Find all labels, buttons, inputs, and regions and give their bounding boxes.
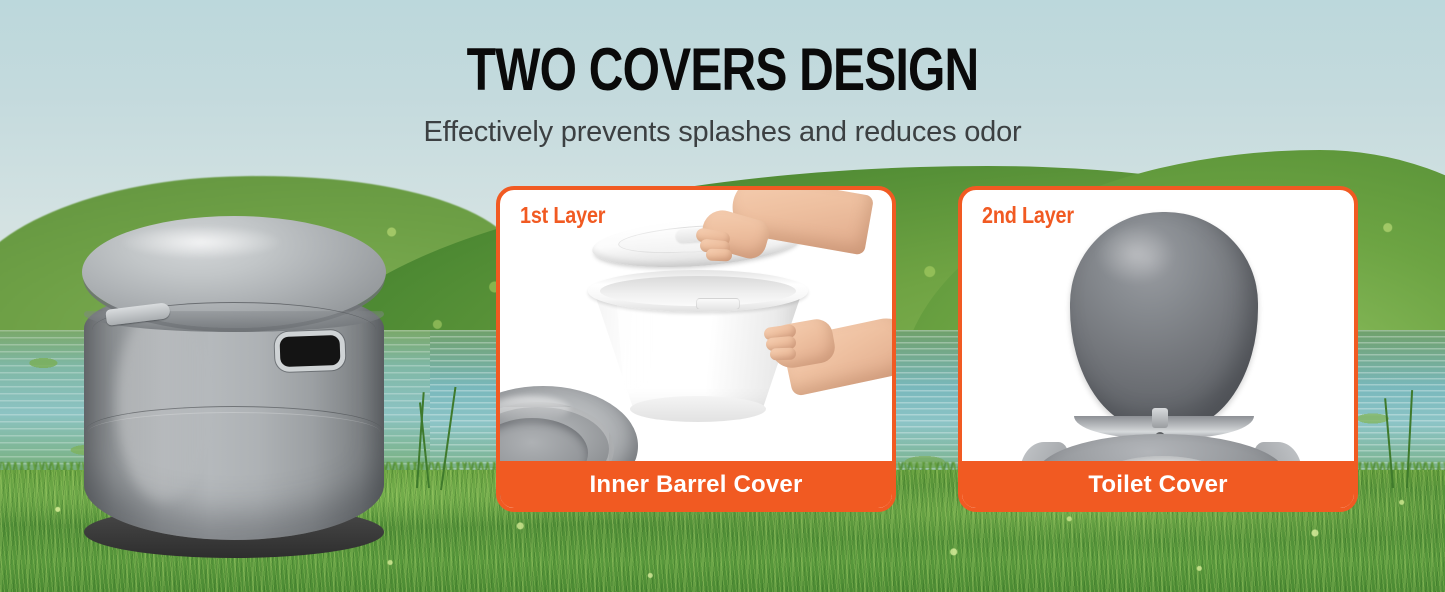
page-title: TWO COVERS DESIGN xyxy=(145,40,1301,100)
feature-card-first-layer: 1st Layer Inner Barrel Cover xyxy=(496,186,896,512)
lower-hand-finger xyxy=(770,348,796,361)
card-caption-second: Toilet Cover xyxy=(1088,471,1227,499)
card-caption-banner-first: Inner Barrel Cover xyxy=(499,461,893,509)
portable-toilet-product-photo xyxy=(70,210,400,562)
card-caption-first: Inner Barrel Cover xyxy=(589,471,802,499)
toilet-cover-lid-highlight xyxy=(1094,226,1186,296)
toilet-body-highlight xyxy=(116,302,212,502)
inner-barrel-latch xyxy=(696,298,740,310)
toilet-lid-highlight xyxy=(116,226,306,266)
feature-card-second-layer: 2nd Layer Toilet Cover xyxy=(958,186,1358,512)
card-caption-banner-second: Toilet Cover xyxy=(961,461,1355,509)
layer-tag-second: 2nd Layer xyxy=(982,202,1074,229)
toilet-cover-hinge xyxy=(1152,408,1168,428)
layer-tag-first: 1st Layer xyxy=(520,202,605,229)
toilet-side-handle-slot xyxy=(279,335,340,367)
upper-hand-finger xyxy=(706,249,732,262)
page-subtitle: Effectively prevents splashes and reduce… xyxy=(0,116,1445,149)
inner-barrel-bottom xyxy=(630,396,766,422)
